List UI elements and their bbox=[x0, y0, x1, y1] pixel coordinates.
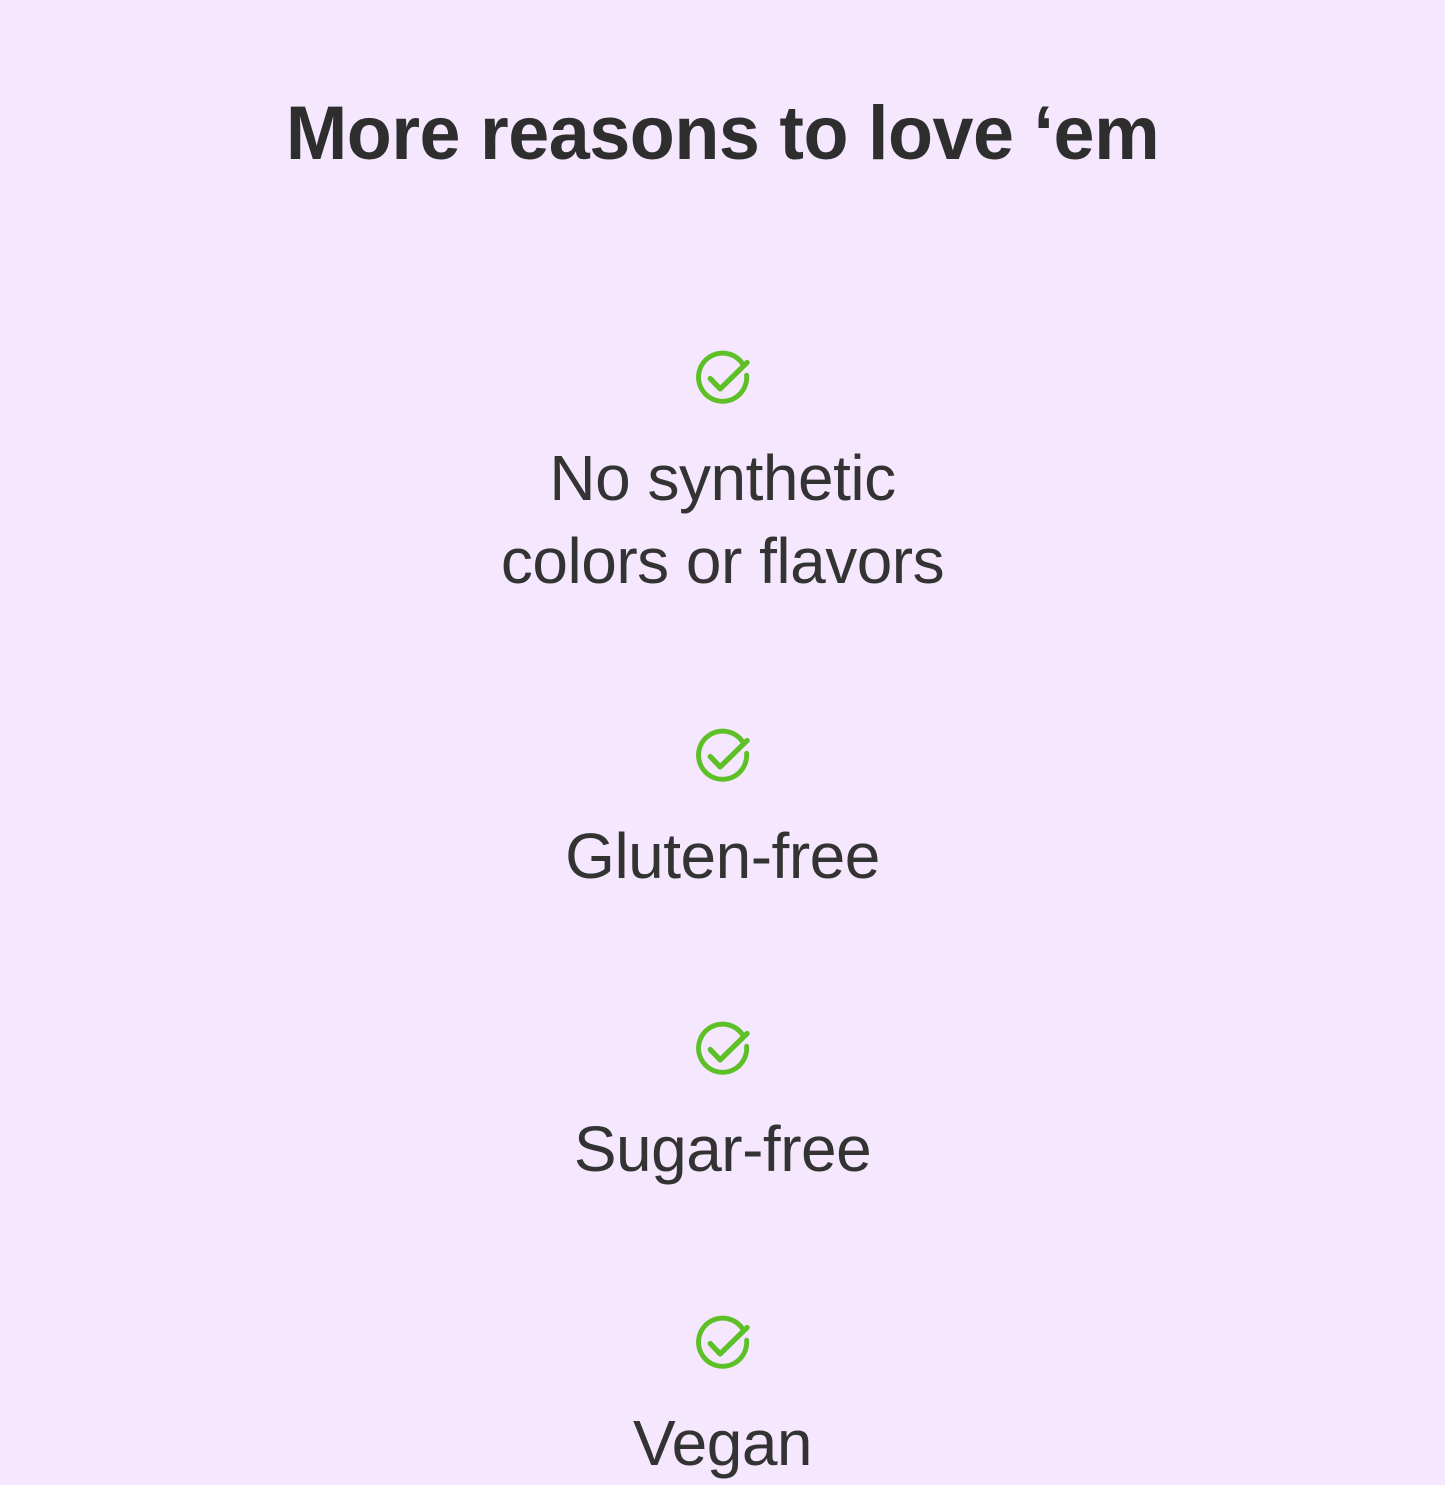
product-benefits-panel: More reasons to love ‘em No synthetic co… bbox=[0, 0, 1445, 1445]
check-circle-icon bbox=[689, 1016, 757, 1084]
list-item-label: Sugar-free bbox=[574, 1108, 871, 1191]
list-item: No synthetic colors or flavors bbox=[0, 345, 1445, 603]
page-title: More reasons to love ‘em bbox=[22, 96, 1424, 172]
list-item-label: Gluten-free bbox=[565, 815, 880, 898]
list-item-label: No synthetic colors or flavors bbox=[501, 437, 944, 603]
check-circle-icon bbox=[689, 1310, 757, 1378]
check-circle-icon bbox=[689, 345, 757, 413]
list-item: Vegan bbox=[0, 1310, 1445, 1485]
check-circle-icon bbox=[689, 723, 757, 791]
benefits-list: No synthetic colors or flavors Gluten-fr… bbox=[0, 223, 1445, 1485]
list-item: Sugar-free bbox=[0, 1016, 1445, 1191]
list-item: Gluten-free bbox=[0, 723, 1445, 898]
list-item-label: Vegan bbox=[633, 1402, 812, 1485]
